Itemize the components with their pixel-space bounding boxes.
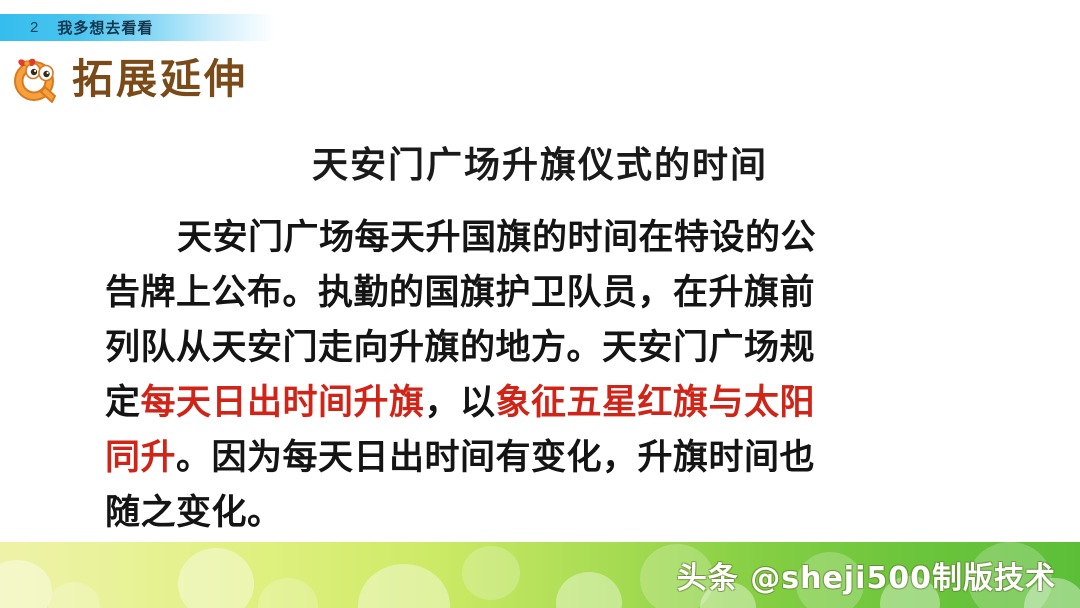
article-line: 列队从天安门走向升旗的地方。天安门广场规 — [105, 320, 957, 375]
article-line: 定每天日出时间升旗，以象征五星红旗与太阳 — [105, 375, 957, 430]
bokeh-circle — [462, 546, 520, 600]
bokeh-circle — [48, 582, 100, 608]
body-text: 定 — [105, 382, 141, 423]
section-heading: 拓展延伸 — [8, 52, 248, 106]
body-text: 列队从天安门走向升旗的地方。天安门广场规 — [105, 327, 815, 368]
article-line: 随之变化。 — [105, 485, 957, 540]
body-text: 。因为每天日出时间有变化，升旗时间也 — [176, 437, 815, 478]
bokeh-circle — [178, 548, 254, 608]
bokeh-circle — [0, 560, 52, 608]
mascot-q-icon — [8, 52, 62, 106]
bokeh-circle — [358, 564, 450, 608]
article-line: 告牌上公布。执勤的国旗护卫队员，在升旗前 — [105, 265, 957, 320]
slide-canvas: 2 我多想去看看 拓展延伸 — [0, 0, 1080, 608]
highlighted-text: 象征五星红旗与太阳 — [496, 382, 816, 423]
lesson-title: 我多想去看看 — [57, 17, 153, 38]
article-body: 天安门广场每天升国旗的时间在特设的公告牌上公布。执勤的国旗护卫队员，在升旗前列队… — [105, 210, 957, 540]
lesson-tab: 2 我多想去看看 — [0, 14, 276, 41]
body-text: 随之变化。 — [105, 492, 283, 533]
lesson-number: 2 — [30, 19, 38, 36]
article-title: 天安门广场升旗仪式的时间 — [0, 136, 1080, 188]
article-line: 天安门广场每天升国旗的时间在特设的公 — [105, 210, 957, 265]
body-text: ，以 — [425, 382, 496, 423]
bokeh-circle — [258, 578, 318, 608]
footer-band: 头条 @sheji500制版技术 — [0, 542, 1080, 608]
body-text: 告牌上公布。执勤的国旗护卫队员，在升旗前 — [105, 272, 815, 313]
highlighted-text: 同升 — [105, 437, 176, 478]
body-text: 天安门广场每天升国旗的时间在特设的公 — [177, 217, 816, 258]
section-title: 拓展延伸 — [72, 59, 248, 100]
article-line: 同升。因为每天日出时间有变化，升旗时间也 — [105, 430, 957, 485]
highlighted-text: 每天日出时间升旗 — [141, 382, 425, 423]
bokeh-circle — [556, 572, 622, 608]
watermark-text: 头条 @sheji500制版技术 — [677, 553, 1056, 597]
